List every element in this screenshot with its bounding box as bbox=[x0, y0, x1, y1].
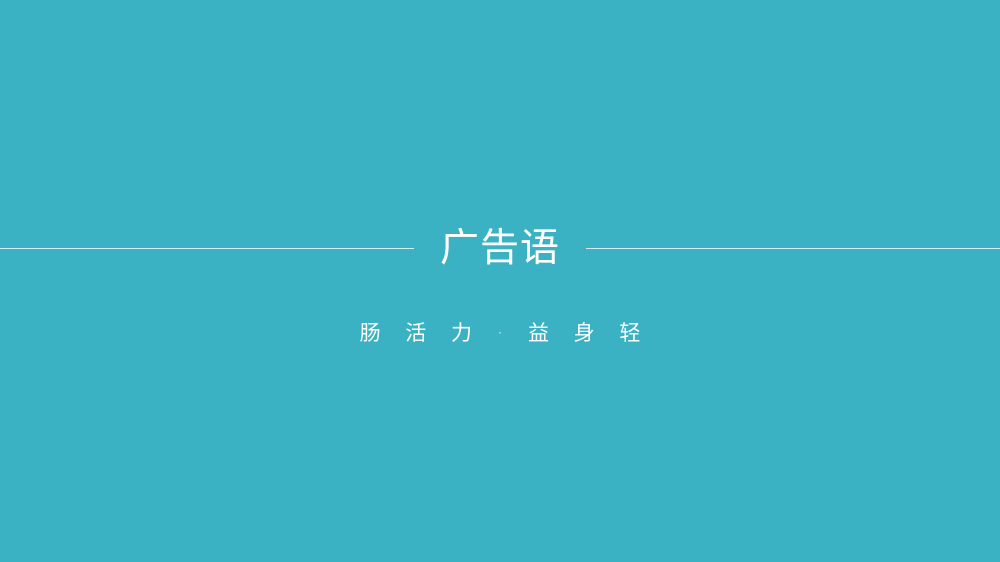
slide-canvas: 广告语 肠 活 力 · 益 身 轻 bbox=[0, 0, 1000, 562]
tagline-text: 肠 活 力 · 益 身 轻 bbox=[0, 320, 1000, 347]
divider-line-left bbox=[0, 248, 414, 249]
title-divider-band: 广告语 bbox=[0, 0, 1000, 529]
page-title: 广告语 bbox=[440, 229, 560, 268]
divider-line-right bbox=[586, 248, 1000, 249]
